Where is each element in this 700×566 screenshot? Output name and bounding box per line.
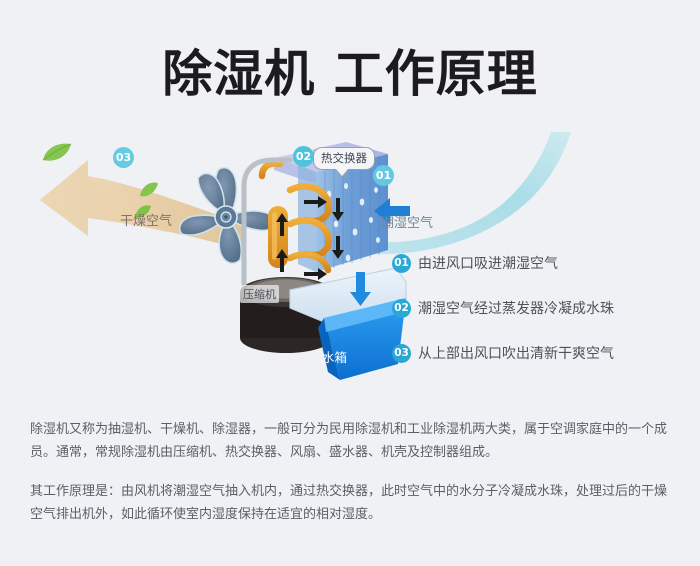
heat-exchanger-label: 热交换器 — [321, 151, 367, 165]
water-tank-label: 水箱 — [322, 347, 347, 366]
diagram-badge-03: 03 — [113, 147, 134, 168]
step-badge-03: 03 — [392, 344, 411, 363]
leaf-icon — [40, 140, 74, 166]
page-title: 除湿机 工作原理 — [0, 34, 700, 106]
description-block: 除湿机又称为抽湿机、干燥机、除湿器，一般可分为民用除湿机和工业除湿机两大类，属于… — [30, 418, 675, 526]
paragraph-1: 除湿机又称为抽湿机、干燥机、除湿器，一般可分为民用除湿机和工业除湿机两大类，属于… — [30, 418, 675, 464]
compressor-label: 压缩机 — [240, 285, 279, 303]
humid-air-sweep-icon — [375, 130, 675, 260]
list-item: 03 从上部出风口吹出清新干爽空气 — [392, 342, 692, 364]
step-text-01: 由进风口吸进潮湿空气 — [418, 253, 558, 273]
step-badge-01: 01 — [392, 254, 411, 273]
dry-air-label: 干燥空气 — [120, 210, 172, 229]
leaf-icon — [138, 180, 160, 200]
paragraph-2: 其工作原理是：由风机将潮湿空气抽入机内，通过热交换器，此时空气中的水分子冷凝成水… — [30, 480, 675, 526]
list-item: 01 由进风口吸进潮湿空气 — [392, 252, 692, 274]
list-item: 02 潮湿空气经过蒸发器冷凝成水珠 — [392, 297, 692, 319]
diagram-badge-02: 02 — [293, 146, 314, 167]
step-list: 01 由进风口吸进潮湿空气 02 潮湿空气经过蒸发器冷凝成水珠 03 从上部出风… — [392, 252, 692, 387]
step-text-02: 潮湿空气经过蒸发器冷凝成水珠 — [418, 298, 614, 318]
humid-air-label: 潮湿空气 — [381, 212, 433, 231]
diagram-badge-01: 01 — [373, 165, 394, 186]
title-part-2: 工作原理 — [334, 45, 538, 103]
step-badge-02: 02 — [392, 299, 411, 318]
infographic-page: 除湿机 工作原理 — [0, 0, 700, 566]
step-text-03: 从上部出风口吹出清新干爽空气 — [418, 343, 614, 363]
heat-exchanger-callout: 热交换器 — [313, 147, 375, 170]
title-part-1: 除湿机 — [162, 45, 315, 103]
